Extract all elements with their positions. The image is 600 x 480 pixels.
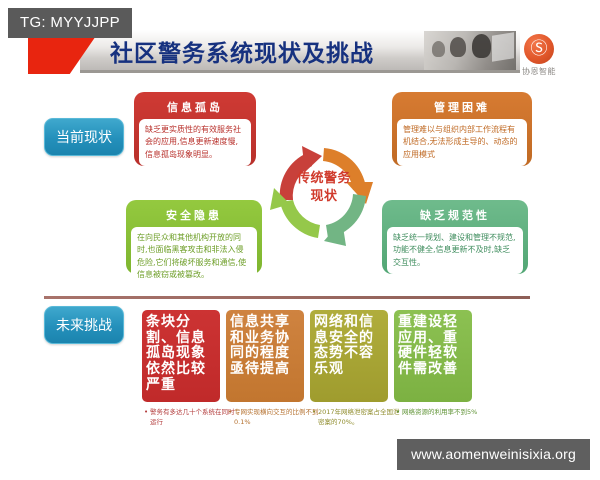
- card-lack-of-standardization: 缺乏规范性 缺乏统一规划、建设和管理不规范,功能不健全,信息更新不及时,缺乏交互…: [382, 200, 528, 274]
- logo-text: 协恩智能: [508, 66, 570, 77]
- cycle-diagram: 传统警务 现状: [262, 128, 386, 256]
- cycle-center-line2: 现状: [262, 188, 386, 206]
- header-underline: [80, 70, 520, 73]
- challenge-column-3: 网络和信息安全的态势不容乐观: [310, 310, 388, 402]
- url-watermark: www.aomenweinisixia.org: [397, 439, 590, 470]
- header-photo-decoration: [424, 31, 516, 71]
- brand-logo: 协恩智能: [508, 34, 570, 77]
- card-information-island: 信息孤岛 缺乏更实质性的有效服务社会的应用,信息更新速度慢,信息孤岛现象明显。: [134, 92, 256, 166]
- slide-canvas: TG: MYYJJPP 社区警务系统现状及挑战 协恩智能 当前现状 未来挑战 信…: [0, 0, 600, 480]
- challenge-column-1: 条块分割、信息孤岛现象依然比较严重: [142, 310, 220, 402]
- card-security-risk: 安全隐患 在向民众和其他机构开放的同时,也面临黑客攻击和非法入侵危险,它们将破坏…: [126, 200, 262, 274]
- card-title: 管理困难: [397, 97, 527, 119]
- card-body: 管理难以与组织内部工作流程有机结合,无法形成主导的、动态的应用模式: [397, 119, 527, 166]
- card-body: 在向民众和其他机构开放的同时,也面临黑客攻击和非法入侵危险,它们将破坏服务和通信…: [131, 227, 257, 287]
- card-title: 安全隐患: [131, 205, 257, 227]
- tg-watermark: TG: MYYJJPP: [8, 8, 132, 38]
- card-title: 缺乏规范性: [387, 205, 523, 227]
- logo-mark-icon: [524, 34, 554, 64]
- challenge-column-4: 重建设轻应用、重硬件轻软件需改善: [394, 310, 472, 402]
- section-label-future-challenges: 未来挑战: [44, 306, 124, 344]
- photo-figure-1: [432, 41, 445, 57]
- challenge-note-4: 网络资源的利用率不到5%: [402, 408, 488, 418]
- card-body: 缺乏更实质性的有效服务社会的应用,信息更新速度慢,信息孤岛现象明显。: [139, 119, 251, 166]
- challenge-column-2: 信息共享和业务协同的程度亟待提高: [226, 310, 304, 402]
- challenge-note-1: 警务有多达几十个系统在同时运行: [150, 408, 236, 428]
- page-title: 社区警务系统现状及挑战: [110, 34, 374, 68]
- challenge-note-3: 2017年网络泄密案占全国泄密案的70%。: [318, 408, 404, 428]
- section-divider: [44, 296, 530, 299]
- card-body: 缺乏统一规划、建设和管理不规范,功能不健全,信息更新不及时,缺乏交互性。: [387, 227, 523, 274]
- cycle-center-line1: 传统警务: [262, 170, 386, 188]
- cycle-center-label: 传统警务 现状: [262, 170, 386, 205]
- photo-figure-3: [472, 34, 491, 58]
- section-label-current-status: 当前现状: [44, 118, 124, 156]
- challenge-note-2: 专网实现横向交互的比例不到0.1%: [234, 408, 320, 428]
- card-title: 信息孤岛: [139, 97, 251, 119]
- photo-figure-2: [450, 37, 466, 57]
- card-management-difficulty: 管理困难 管理难以与组织内部工作流程有机结合,无法形成主导的、动态的应用模式: [392, 92, 532, 166]
